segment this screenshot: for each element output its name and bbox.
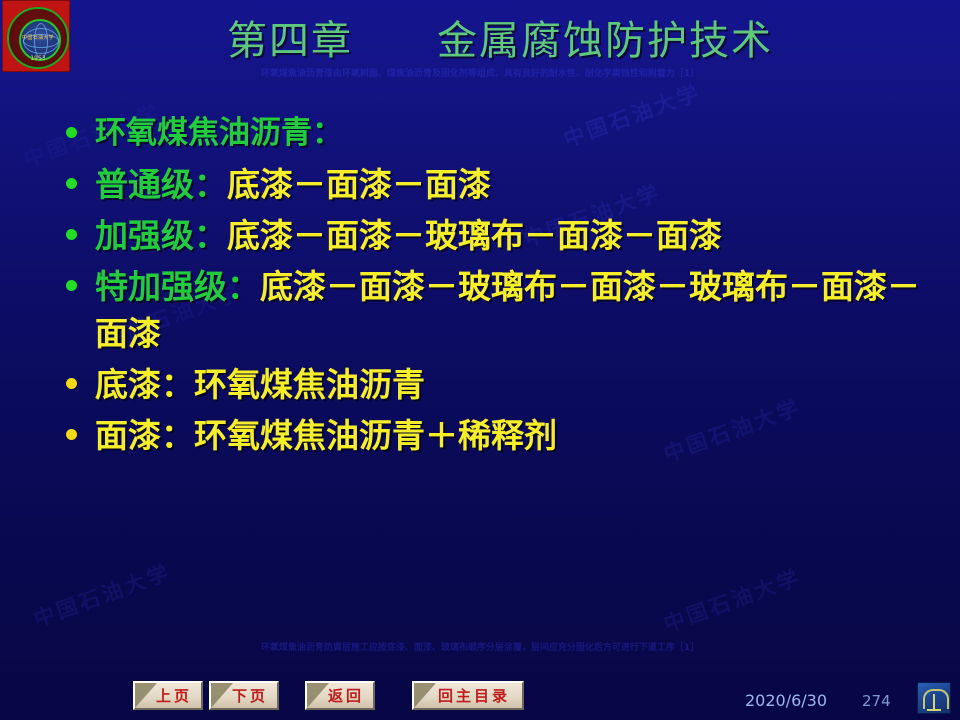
bullet-dot-icon <box>66 429 77 440</box>
bullet-dot-icon <box>66 280 77 291</box>
prev-page-button[interactable]: 上页 <box>133 681 203 710</box>
list-item: 特加强级：底漆－面漆－玻璃布－面漆－玻璃布－面漆－面漆 <box>58 263 938 357</box>
list-item-text: 底漆：环氧煤焦油沥青 <box>95 361 938 408</box>
watermark-text: 中国石油大学 <box>29 556 175 633</box>
logo-seal-text: 中国石油大学 <box>22 34 54 41</box>
slide-canvas: 中国石油大学 中国石油大学 中国石油大学 中国石油大学 中国石油大学 中国石油大… <box>0 0 960 720</box>
list-item-text: 特加强级：底漆－面漆－玻璃布－面漆－玻璃布－面漆－面漆 <box>95 263 938 357</box>
next-page-button[interactable]: 下页 <box>209 681 279 710</box>
footer-emblem-icon <box>917 682 951 714</box>
list-item-text: 环氧煤焦油沥青： <box>95 110 938 157</box>
list-item: 加强级：底漆－面漆－玻璃布－面漆－面漆 <box>58 212 938 259</box>
university-logo: 中国石油大学 1953 <box>2 0 70 72</box>
watermark-text: 中国石油大学 <box>659 561 805 638</box>
bullet-list: 环氧煤焦油沥青： 普通级：底漆－面漆－面漆 加强级：底漆－面漆－玻璃布－面漆－面… <box>58 110 938 463</box>
emblem-base-shape <box>927 709 941 711</box>
text-segment: 普通级： <box>95 165 227 204</box>
globe-meridian-line <box>34 23 48 59</box>
bullet-dot-icon <box>66 229 77 240</box>
footer-date: 2020/6/30 <box>745 691 827 710</box>
text-segment: 加强级： <box>95 216 227 255</box>
text-segment: 特加强级： <box>95 267 260 306</box>
bullet-dot-icon <box>66 178 77 189</box>
text-segment: 底漆－面漆－面漆 <box>227 165 491 204</box>
list-item: 底漆：环氧煤焦油沥青 <box>58 361 938 408</box>
footer-page-number: 274 <box>862 692 891 710</box>
emblem-arc-shape <box>923 689 949 709</box>
text-segment: 底漆－面漆－玻璃布－面漆－面漆 <box>227 216 722 255</box>
logo-outer-ring: 中国石油大学 1953 <box>7 7 69 69</box>
logo-seal-year: 1953 <box>9 55 67 62</box>
list-item-text: 加强级：底漆－面漆－玻璃布－面漆－面漆 <box>95 212 938 259</box>
main-menu-label: 回主目录 <box>414 683 522 708</box>
list-item-text: 普通级：底漆－面漆－面漆 <box>95 161 938 208</box>
back-button[interactable]: 返回 <box>305 681 375 710</box>
micro-text-band-top: 环氧煤焦油沥青漆由环氧树脂、煤焦油沥青及固化剂等组成，具有良好的耐水性、耐化学腐… <box>0 66 960 79</box>
bullet-dot-icon <box>66 127 77 138</box>
micro-text-band-bottom: 环氧煤焦油沥青防腐层施工应按底漆、面漆、玻璃布顺序分层涂覆，层间应充分固化后方可… <box>0 640 960 653</box>
bullet-dot-icon <box>66 378 77 389</box>
list-item: 环氧煤焦油沥青： <box>58 110 938 157</box>
text-segment: 面漆：环氧煤焦油沥青＋稀释剂 <box>95 416 557 455</box>
list-item-text: 面漆：环氧煤焦油沥青＋稀释剂 <box>95 412 938 459</box>
text-segment: 底漆：环氧煤焦油沥青 <box>95 365 425 404</box>
next-page-label: 下页 <box>211 683 277 708</box>
slide-title: 第四章 金属腐蚀防护技术 <box>80 8 920 66</box>
main-menu-button[interactable]: 回主目录 <box>412 681 524 710</box>
back-label: 返回 <box>307 683 373 708</box>
prev-page-label: 上页 <box>135 683 201 708</box>
emblem-stem-shape <box>933 694 935 710</box>
list-item: 面漆：环氧煤焦油沥青＋稀释剂 <box>58 412 938 459</box>
list-item: 普通级：底漆－面漆－面漆 <box>58 161 938 208</box>
text-segment: 环氧煤焦油沥青： <box>95 115 343 151</box>
